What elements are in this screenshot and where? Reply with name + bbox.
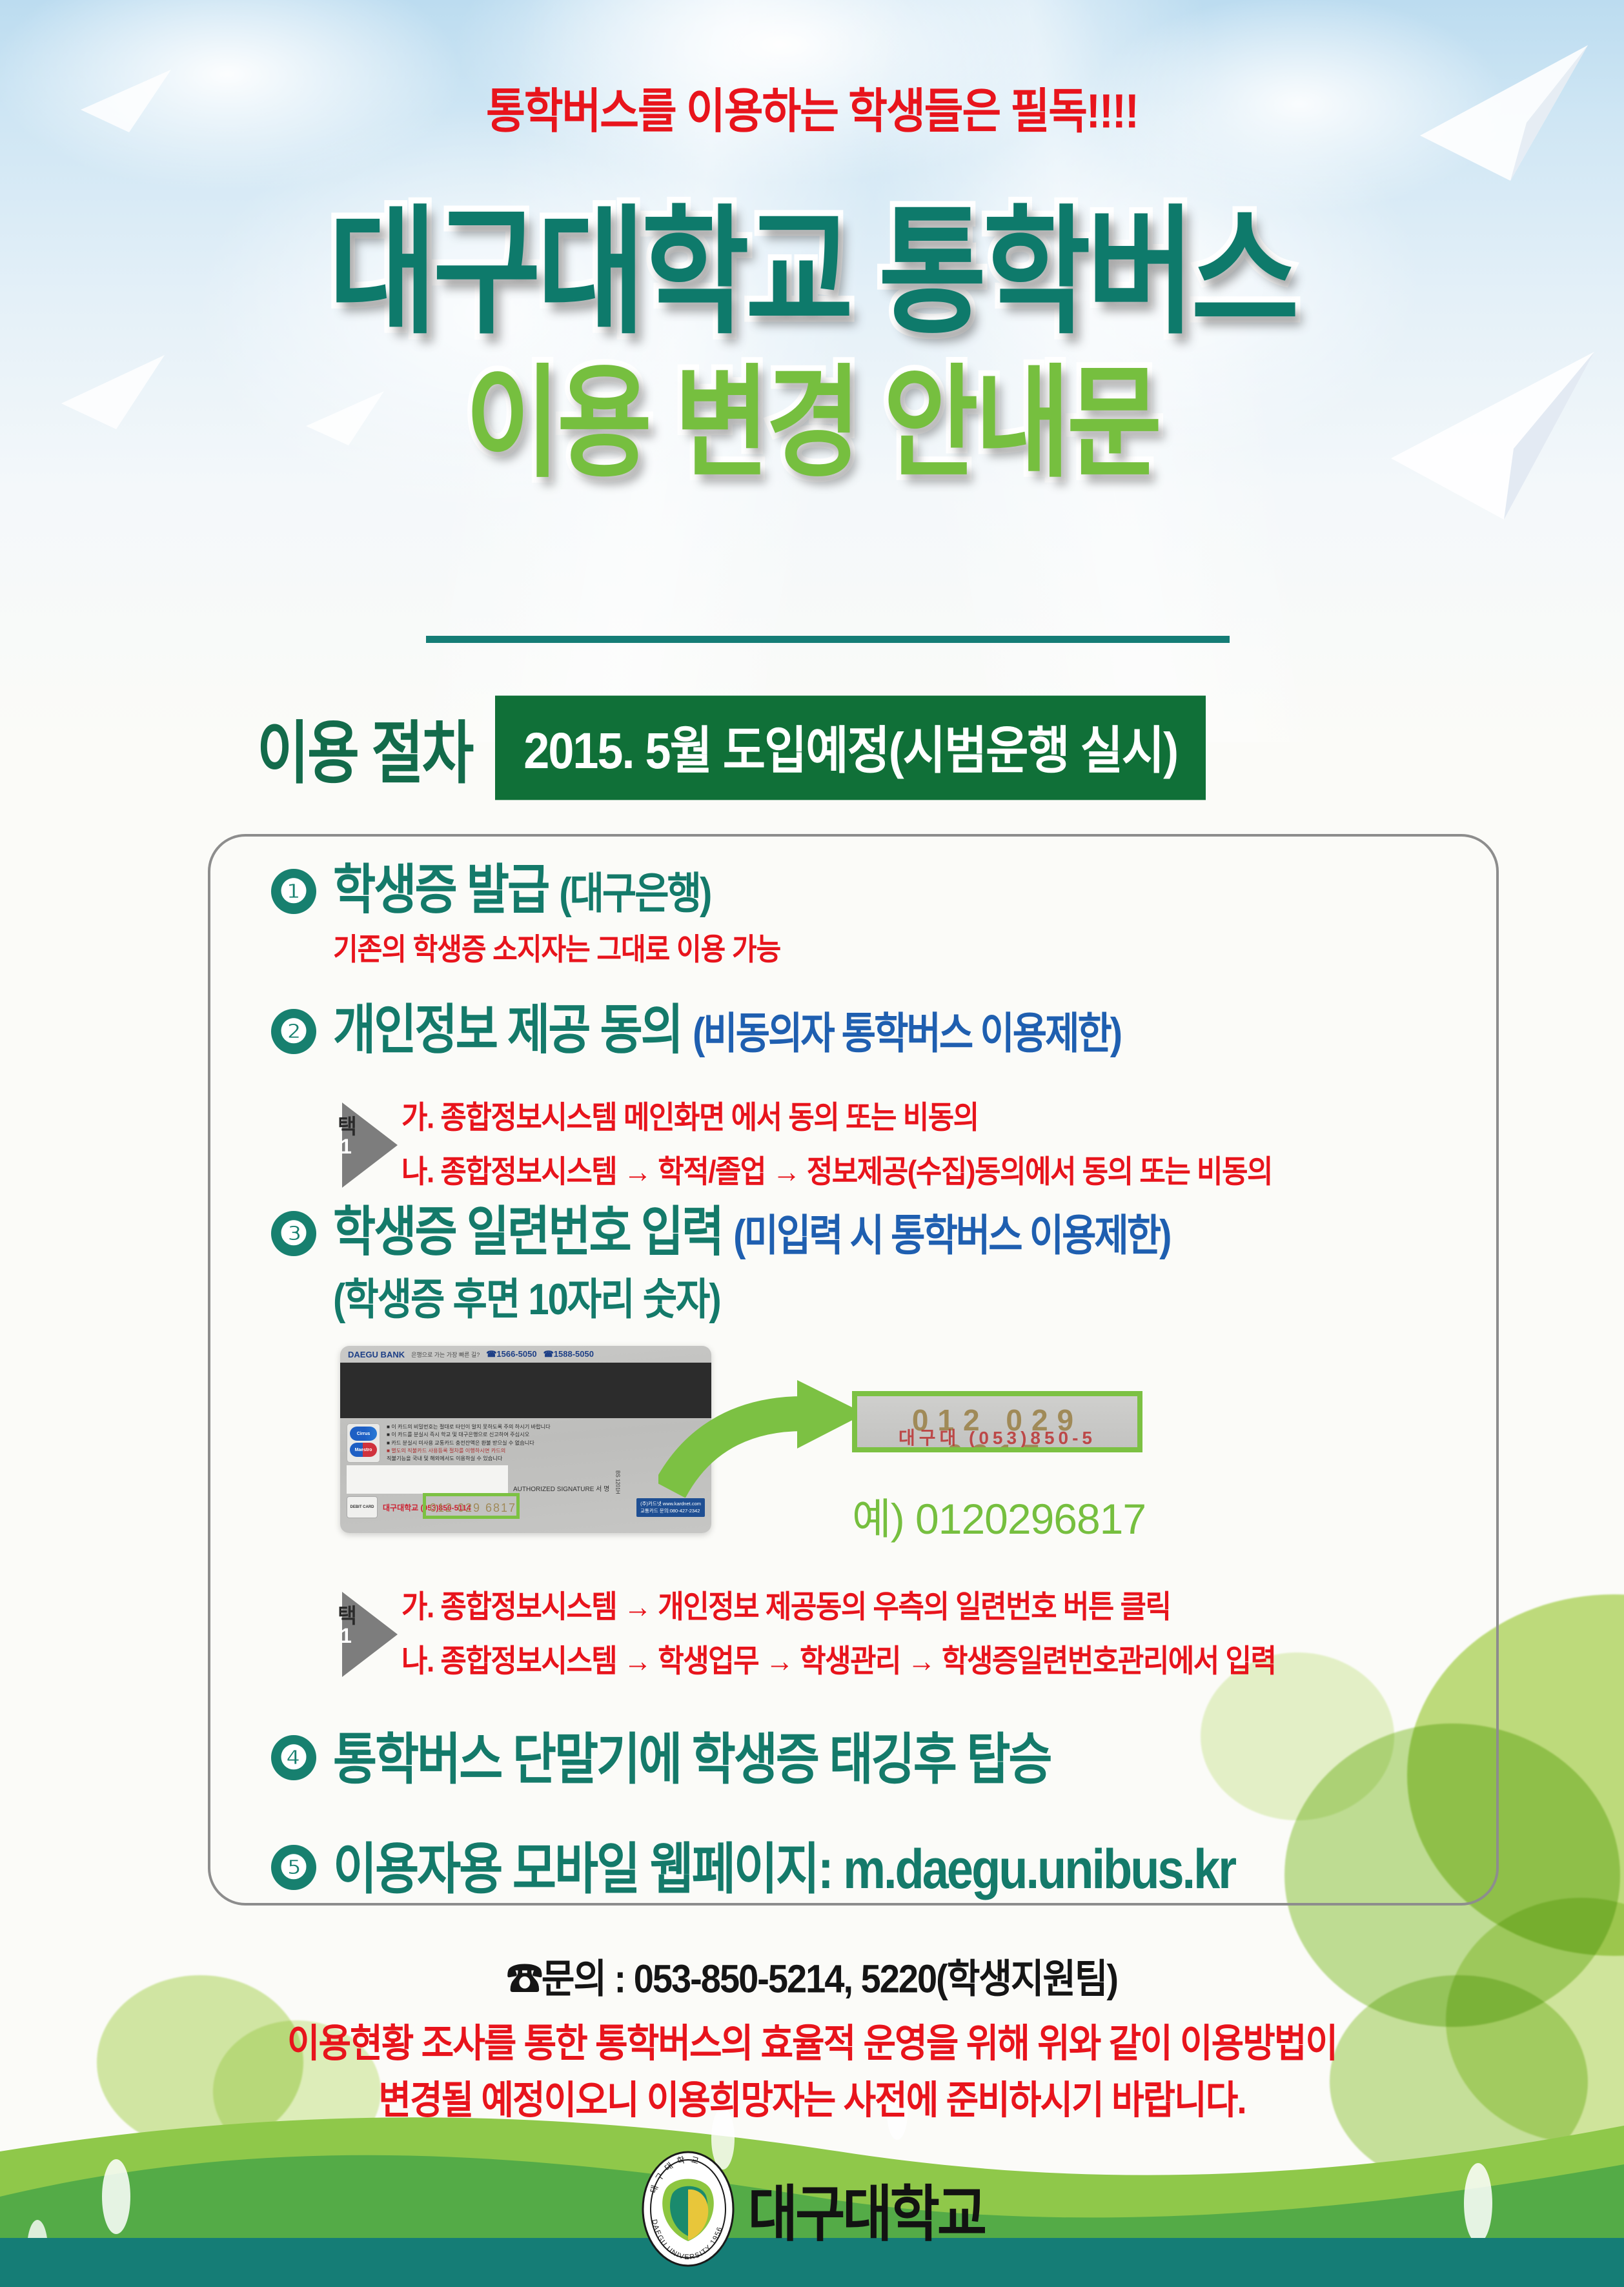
step-2-option-b: 나. 종합정보시스템 → 학적/졸업 → 정보제공(수집)동의에서 동의 또는 … (401, 1142, 1272, 1201)
card-bank-name: DAEGU BANK (348, 1350, 405, 1359)
card-version-code: BS 1201H (614, 1470, 620, 1494)
title-divider (426, 636, 1230, 643)
step-2-paren: (비동의자 통학버스 이용제한) (693, 1009, 1121, 1057)
choose-one-label: 택1 (336, 1605, 356, 1646)
step-3-option-a: 가. 종합정보시스템 → 개인정보 제공동의 우측의 일련번호 버튼 클릭 (401, 1578, 1275, 1637)
procedure-header: 이용 절차 2015. 5월 도입예정(시범운행 실시) (257, 700, 1206, 795)
step-3-option-b: 나. 종합정보시스템 → 학생업무 → 학생관리 → 학생증일련번호관리에서 입… (401, 1631, 1275, 1691)
step-1-badge: ❶ (271, 869, 316, 914)
step-1: ❶ 학생증 발급 (대구은행) 기존의 학생증 소지자는 그대로 이용 가능 (271, 864, 780, 967)
green-arrow-icon (658, 1368, 871, 1498)
step-3-badge: ❸ (271, 1211, 316, 1256)
step-3-title: 학생증 일련번호 입력 (미입력 시 통학버스 이용제한) (333, 1201, 1170, 1263)
step-1-title: 학생증 발급 (대구은행) (333, 859, 780, 921)
maestro-icon: Maestro (350, 1443, 377, 1457)
choose-label-top: 택 (334, 1115, 358, 1135)
card-term-2: ■ 이 카드를 분실시 즉시 학교 및 대구은행으로 신고하여 주십시오 (387, 1431, 705, 1439)
title-block: 대구대학교 통학버스 이용 변경 안내문 (0, 213, 1624, 476)
serial-example-text: 예) 0120296817 (852, 1485, 1146, 1547)
card-term-3: ■ 카드 분실시 미사용 교통카드 충전잔액은 환불 받으실 수 없습니다 (387, 1439, 705, 1447)
step-5-badge: ❺ (271, 1845, 316, 1890)
step-2-title-text: 개인정보 제공 동의 (333, 1001, 693, 1061)
step-1-note: 기존의 학생증 소지자는 그대로 이용 가능 (333, 925, 780, 969)
notice-line-2: 변경될 예정이오니 이용희망자는 사전에 준비하시기 바랍니다. (0, 2072, 1624, 2129)
notice-text: 이용현황 조사를 통한 통학버스의 효율적 운영을 위해 위와 같이 이용방법이… (0, 2015, 1624, 2128)
choose-label-num: 1 (334, 1624, 358, 1646)
choose-one-marker: 택1 (330, 1103, 398, 1188)
card-tagline: 은행으로 가는 가장 빠른 길? (411, 1350, 480, 1359)
card-terms: ■ 이 카드의 비밀번호는 절대로 타인이 알지 못하도록 주의 하시기 바랍니… (387, 1423, 705, 1463)
procedure-label: 이용 절차 (257, 698, 472, 797)
university-logo-row: 대 구 대 학 교 DAEGU UNIVERSITY 1956 대구대학교 (0, 2150, 1624, 2269)
step-2-badge: ❷ (271, 1009, 316, 1054)
card-term-1: ■ 이 카드의 비밀번호는 절대로 타인이 알지 못하도록 주의 하시기 바랍니… (387, 1423, 705, 1431)
university-name: 대구대학교 (748, 2166, 984, 2253)
callout-sub-text: 대구대 (053)850-5 (857, 1424, 1137, 1450)
debit-card-icon: DEBIT CARD (347, 1496, 378, 1518)
magnetic-stripe (340, 1363, 711, 1418)
step-3: ❸ 학생증 일련번호 입력 (미입력 시 통학버스 이용제한) (학생증 후면 … (271, 1206, 1170, 1323)
main-title-line1: 대구대학교 통학버스 (0, 202, 1624, 343)
card-tel-1: ☎1566-5050 (486, 1349, 536, 1359)
step-1-title-text: 학생증 발급 (333, 860, 559, 920)
choose-label-num: 1 (334, 1135, 358, 1157)
kardnet-line-2: 교통카드 문의:080-427-2342 (640, 1507, 701, 1514)
step-3-choose-one: 택1 가. 종합정보시스템 → 개인정보 제공동의 우측의 일련번호 버튼 클릭… (330, 1580, 1275, 1688)
choose-one-label: 택1 (336, 1115, 356, 1157)
daegu-university-emblem-icon: 대 구 대 학 교 DAEGU UNIVERSITY 1956 (640, 2150, 736, 2269)
choose-one-marker: 택1 (330, 1592, 398, 1677)
step-2-option-a: 가. 종합정보시스템 메인화면 에서 동의 또는 비동의 (401, 1088, 1272, 1148)
step-3-paren: (미입력 시 통학버스 이용제한) (733, 1211, 1170, 1259)
step-5-title[interactable]: 이용자용 모바일 웹페이지: m.daegu.unibus.kr (333, 1824, 1235, 1904)
cirrus-icon: Cirrus (350, 1427, 377, 1441)
step-3-title-text: 학생증 일련번호 입력 (333, 1203, 733, 1263)
serial-highlight-box (423, 1493, 520, 1519)
step-1-paren: (대구은행) (559, 869, 710, 917)
kardnet-badge: (주)카드넷 www.kardnet.com 교통카드 문의:080-427-2… (636, 1498, 705, 1517)
signature-label: AUTHORIZED SIGNATURE 서 명 (513, 1486, 609, 1494)
step-4-title: 통학버스 단말기에 학생증 태깅후 탑승 (333, 1714, 1051, 1794)
procedure-banner: 2015. 5월 도입예정(시범운행 실시) (495, 696, 1206, 800)
kardnet-line-1: (주)카드넷 www.kardnet.com (640, 1500, 701, 1507)
card-term-5: 직불기능을 국내 및 해외에서도 이용하실 수 있습니다 (387, 1455, 705, 1463)
step-2-title: 개인정보 제공 동의 (비동의자 통학버스 이용제한) (333, 999, 1121, 1061)
step-4-badge: ❹ (271, 1735, 316, 1780)
step-2: ❷ 개인정보 제공 동의 (비동의자 통학버스 이용제한) (271, 1004, 1121, 1057)
card-header: DAEGU BANK 은행으로 가는 가장 빠른 길? ☎1566-5050 ☎… (340, 1346, 711, 1363)
serial-zoom-callout: 012 029 6817 대구대 (053)850-5 (852, 1391, 1142, 1452)
step-5: ❺ 이용자용 모바일 웹페이지: m.daegu.unibus.kr (271, 1830, 1235, 1899)
main-title-line2: 이용 변경 안내문 (0, 361, 1624, 485)
card-tel-2: ☎1588-5050 (543, 1349, 594, 1359)
step-4: ❹ 통학버스 단말기에 학생증 태깅후 탑승 (271, 1720, 1051, 1789)
card-network-logos: Cirrus Maestro (347, 1423, 380, 1463)
step-2-choose-one: 택1 가. 종합정보시스템 메인화면 에서 동의 또는 비동의 나. 종합정보시… (330, 1091, 1272, 1199)
poster-canvas: 통학버스를 이용하는 학생들은 필독!!!! 대구대학교 통학버스 이용 변경 … (0, 0, 1624, 2287)
student-card-image: DAEGU BANK 은행으로 가는 가장 빠른 길? ☎1566-5050 ☎… (340, 1346, 711, 1533)
contact-line: ☎문의 : 053-850-5214, 5220(학생지원팀) (0, 1947, 1624, 2004)
choose-label-top: 택 (334, 1605, 358, 1624)
kicker-headline: 통학버스를 이용하는 학생들은 필독!!!! (0, 72, 1624, 142)
step-3-subtitle: (학생증 후면 10자리 숫자) (333, 1264, 1170, 1326)
notice-line-1: 이용현황 조사를 통한 통학버스의 효율적 운영을 위해 위와 같이 이용방법이 (0, 2015, 1624, 2072)
card-term-4: ■ 별도의 직불카드 사용등록 절차를 이행하시면 카드의 (387, 1447, 705, 1455)
signature-panel (347, 1465, 508, 1494)
